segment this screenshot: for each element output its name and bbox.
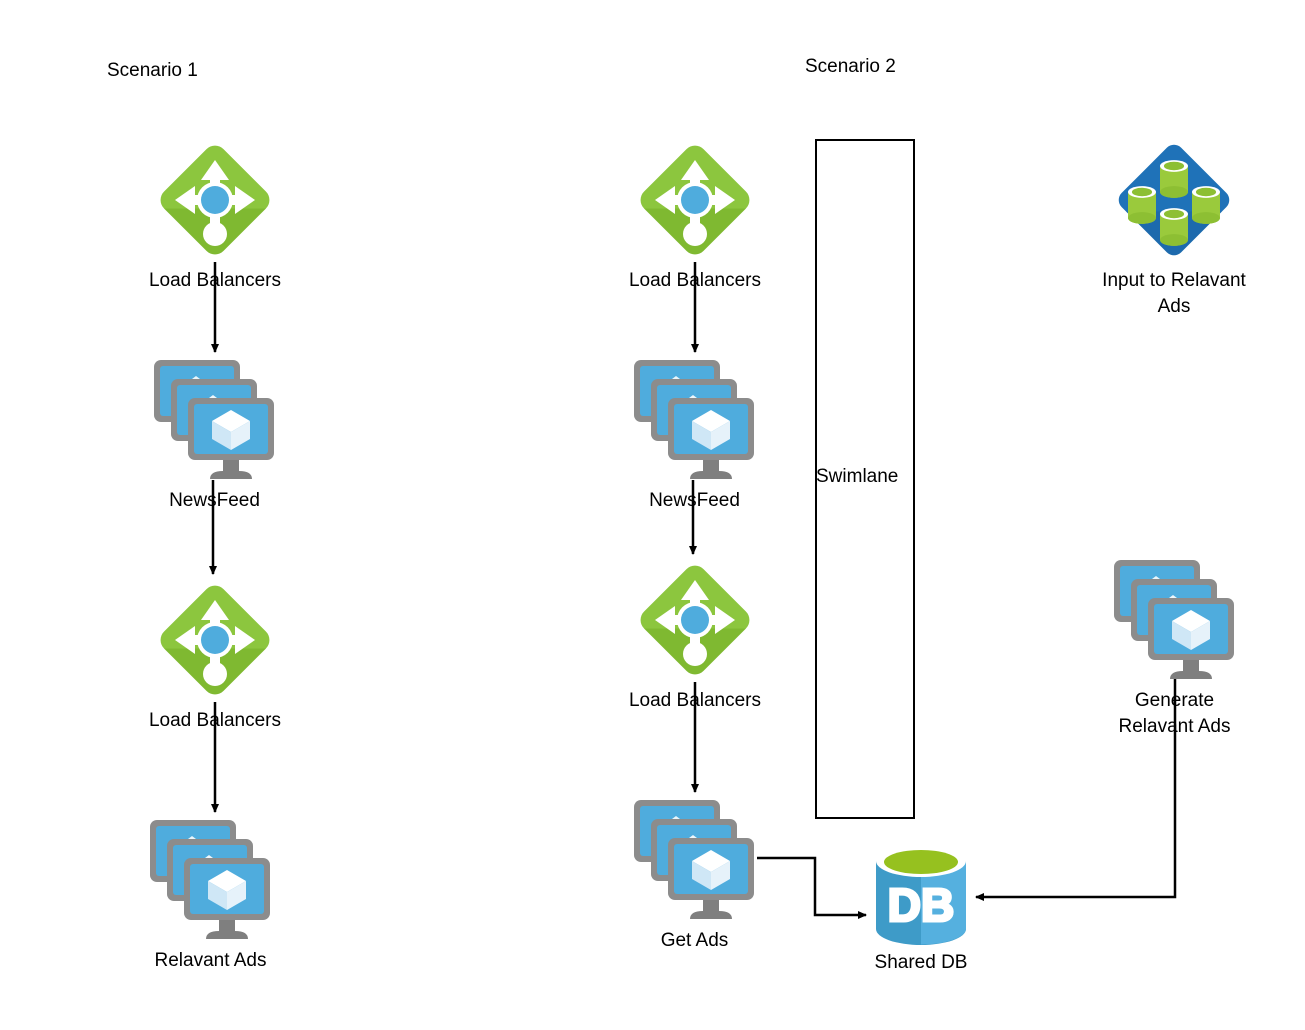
node-label-s1-relavant-ads: Relavant Ads — [155, 948, 267, 974]
storage-cylinder — [1160, 208, 1188, 246]
node-s2-shared-db[interactable]: DB Shared DB — [872, 845, 970, 945]
virtual-machines-icon — [632, 358, 757, 483]
load-balancer-icon — [635, 560, 755, 680]
node-label-s2-generate-relavant-ads: Generate Relavant Ads — [1119, 688, 1231, 740]
load-balancer-icon — [155, 580, 275, 700]
virtual-machines-icon — [1112, 558, 1237, 683]
node-s2-generate-relavant-ads[interactable]: Generate Relavant Ads — [1112, 558, 1237, 683]
scenario-title-scenario-2: Scenario 2 — [805, 56, 896, 78]
node-label-s1-lb-2: Load Balancers — [149, 708, 281, 734]
storage-cylinder — [1128, 186, 1156, 224]
database-icon: DB — [872, 845, 970, 945]
storage-diamond-icon — [1114, 140, 1234, 260]
scenario-title-scenario-1: Scenario 1 — [107, 60, 198, 82]
load-balancer-center-dot — [201, 186, 229, 214]
database-icon: DB — [872, 845, 970, 945]
load-balancer-center-dot — [681, 186, 709, 214]
load-balancer-icon — [635, 140, 755, 260]
node-label-s2-get-ads: Get Ads — [661, 928, 729, 954]
node-label-s2-shared-db: Shared DB — [875, 950, 968, 976]
node-s1-relavant-ads[interactable]: Relavant Ads — [148, 818, 273, 943]
node-s1-lb-1[interactable]: Load Balancers — [155, 140, 275, 260]
virtual-machines-icon — [632, 798, 757, 923]
virtual-machines-icon — [632, 798, 757, 923]
node-s2-lb-2[interactable]: Load Balancers — [635, 560, 755, 680]
node-s2-input-relavant-ads[interactable]: Input to Relavant Ads — [1114, 140, 1234, 260]
node-label-s2-newsfeed: NewsFeed — [649, 488, 740, 514]
virtual-machines-icon — [1112, 558, 1237, 683]
node-s2-get-ads[interactable]: Get Ads — [632, 798, 757, 923]
virtual-machines-icon — [148, 818, 273, 943]
storage-cylinder — [1160, 160, 1188, 198]
virtual-machines-icon — [148, 818, 273, 943]
load-balancer-icon — [155, 140, 275, 260]
edge-s2-get-ads-to-s2-shared-db — [757, 858, 866, 915]
db-glyph-text: DB — [888, 879, 954, 931]
load-balancer-icon — [635, 140, 755, 260]
node-label-s2-input-relavant-ads: Input to Relavant Ads — [1102, 268, 1246, 320]
node-s2-newsfeed[interactable]: NewsFeed — [632, 358, 757, 483]
virtual-machines-icon — [152, 358, 277, 483]
load-balancer-icon — [635, 560, 755, 680]
load-balancer-center-dot — [681, 606, 709, 634]
load-balancer-icon — [155, 580, 275, 700]
load-balancer-icon — [155, 140, 275, 260]
node-label-s2-lb-1: Load Balancers — [629, 268, 761, 294]
virtual-machines-icon — [632, 358, 757, 483]
virtual-machines-icon — [152, 358, 277, 483]
node-s2-lb-1[interactable]: Load Balancers — [635, 140, 755, 260]
node-s1-newsfeed[interactable]: NewsFeed — [152, 358, 277, 483]
diagram-canvas: Scenario 1Scenario 2 Swimlane Load Balan… — [0, 0, 1305, 1030]
swimlane-label: Swimlane — [816, 466, 898, 488]
node-label-s1-newsfeed: NewsFeed — [169, 488, 260, 514]
node-s1-lb-2[interactable]: Load Balancers — [155, 580, 275, 700]
storage-diamond-icon — [1114, 140, 1234, 260]
node-label-s2-lb-2: Load Balancers — [629, 688, 761, 714]
node-label-s1-lb-1: Load Balancers — [149, 268, 281, 294]
storage-cylinder — [1192, 186, 1220, 224]
load-balancer-center-dot — [201, 626, 229, 654]
